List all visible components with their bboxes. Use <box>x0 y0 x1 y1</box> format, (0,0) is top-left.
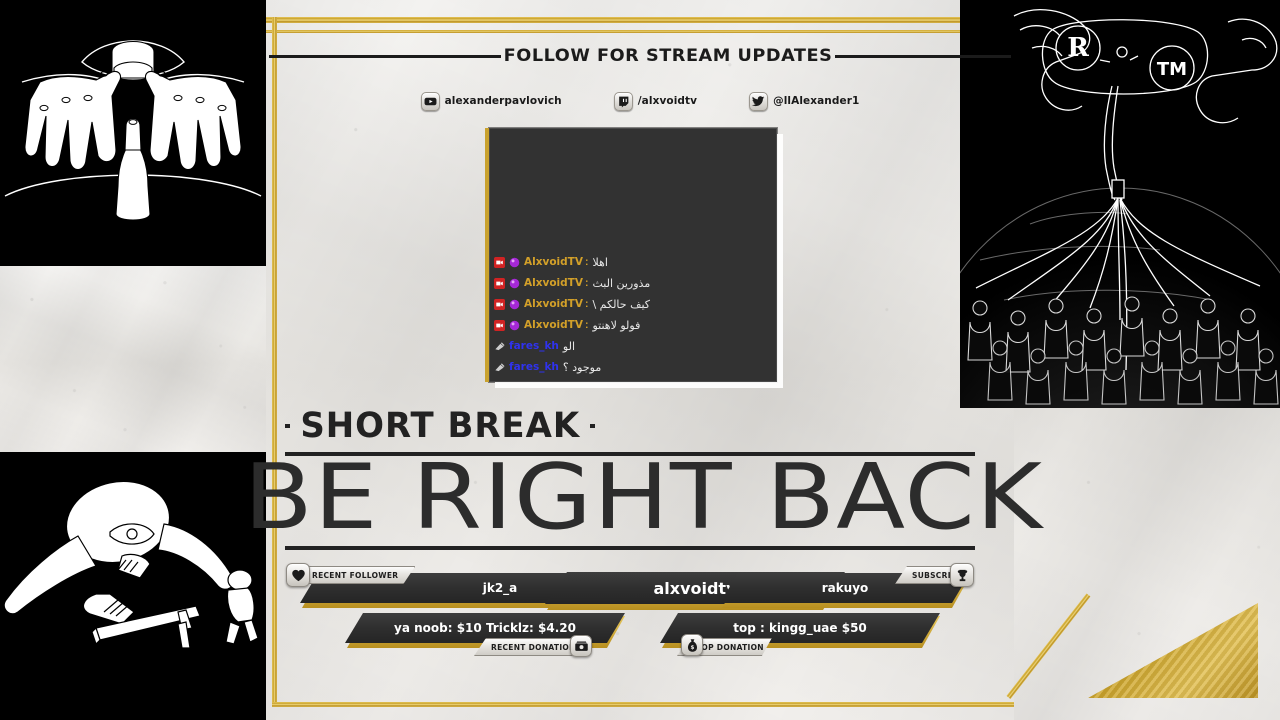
chat-message: AlxvoidTV : فولو لاهنتو <box>494 315 770 335</box>
follow-header-title: FOLLOW FOR STREAM UPDATES <box>494 46 841 66</box>
chat-colon: : <box>585 277 589 289</box>
svg-text:TM: TM <box>1157 59 1187 80</box>
chat-text: الو <box>563 340 575 353</box>
heart-icon <box>286 563 310 587</box>
chat-colon: : <box>585 256 589 268</box>
recent-donation-label-pill: RECENT DONATION <box>474 638 584 656</box>
trophy-icon <box>950 563 974 587</box>
break-title-block: SHORT BREAK BE RIGHT BACK <box>285 405 975 555</box>
social-twitter[interactable]: @llAlexander1 <box>749 92 859 111</box>
subscriber-badge-icon <box>509 320 520 331</box>
left-middle-background-panel <box>0 266 266 452</box>
chat-username: AlxvoidTV <box>524 256 583 268</box>
chat-message: fares_kh موجود ؟ <box>494 357 770 377</box>
top-donation-label: TOP DONATION <box>696 643 764 652</box>
social-links-row: alexanderpavlovich /alxvoidtv @llAlexand… <box>266 88 1014 114</box>
chat-username: fares_kh <box>509 340 559 352</box>
follow-header: FOLLOW FOR STREAM UPDATES <box>266 42 1014 70</box>
recent-donation-value: ya noob: $10 Tricklz: $4.20 <box>345 621 625 635</box>
gold-top-thin-line <box>266 30 960 33</box>
moderator-badge-icon <box>494 278 505 289</box>
svg-text:R: R <box>1067 33 1089 63</box>
moderator-badge-icon <box>494 299 505 310</box>
recent-donation-label: RECENT DONATION <box>491 643 576 652</box>
viewer-badge-icon <box>494 341 505 352</box>
chat-text: موجود ؟ <box>563 361 601 374</box>
svg-text:$: $ <box>690 644 694 650</box>
recent-follower-label: RECENT FOLLOWER <box>312 571 398 580</box>
top-donation-value: top : kingg_uae $50 <box>660 621 940 635</box>
main-title-text: BE RIGHT BACK <box>244 457 1017 539</box>
chat-message-list: AlxvoidTV : اهلا AlxvoidTV : مذورين البث <box>490 252 776 377</box>
header-rule-right <box>835 55 1011 58</box>
stream-overlay-stage: R TM FOLLOW FOR STREAM UPDATES alexander… <box>0 0 1280 720</box>
rule-under-main-title <box>285 546 975 550</box>
chat-text: فولو لاهنتو <box>592 319 640 332</box>
youtube-icon <box>421 92 440 111</box>
header-rule-left <box>269 55 501 58</box>
chat-username: AlxvoidTV <box>524 319 583 331</box>
social-handle-twitch: /alxvoidtv <box>638 95 697 107</box>
chat-message: fares_kh الو <box>494 336 770 356</box>
chat-text: مذورين البث <box>592 277 650 290</box>
social-handle-youtube: alexanderpavlovich <box>445 95 562 107</box>
gold-top-line <box>266 17 960 23</box>
kicker-rule-right <box>590 424 595 428</box>
chat-username: fares_kh <box>509 361 559 373</box>
twitch-icon <box>614 92 633 111</box>
twitter-icon <box>749 92 768 111</box>
chat-username: AlxvoidTV <box>524 298 583 310</box>
chat-text: كيف حالكم \ <box>592 298 650 311</box>
subscriber-badge-icon <box>509 278 520 289</box>
gold-bottom-line <box>272 702 1014 707</box>
subscriber-badge-icon <box>509 257 520 268</box>
kicker-rule-left <box>285 424 290 428</box>
artwork-bottom-left <box>0 452 266 720</box>
chat-text: اهلا <box>592 256 607 269</box>
social-handle-twitter: @llAlexander1 <box>773 95 859 107</box>
social-youtube[interactable]: alexanderpavlovich <box>421 92 562 111</box>
chat-window[interactable]: AlxvoidTV : اهلا AlxvoidTV : مذورين البث <box>489 128 777 382</box>
money-bag-icon: $ <box>681 634 703 656</box>
chat-colon: : <box>585 298 589 310</box>
money-icon <box>570 635 592 657</box>
chat-message: AlxvoidTV : كيف حالكم \ <box>494 294 770 314</box>
chat-colon: : <box>585 319 589 331</box>
subscriber-badge-icon <box>509 299 520 310</box>
gold-left-vertical-line <box>272 17 277 707</box>
social-twitch[interactable]: /alxvoidtv <box>614 92 697 111</box>
recent-follower-label-pill: RECENT FOLLOWER <box>304 566 415 584</box>
viewer-badge-icon <box>494 362 505 373</box>
artwork-top-left <box>0 0 266 266</box>
chat-message: AlxvoidTV : اهلا <box>494 252 770 272</box>
moderator-badge-icon <box>494 257 505 268</box>
kicker-text: SHORT BREAK <box>295 406 586 446</box>
chat-message: AlxvoidTV : مذورين البث <box>494 273 770 293</box>
kicker-row: SHORT BREAK <box>285 405 975 447</box>
chat-username: AlxvoidTV <box>524 277 583 289</box>
moderator-badge-icon <box>494 320 505 331</box>
